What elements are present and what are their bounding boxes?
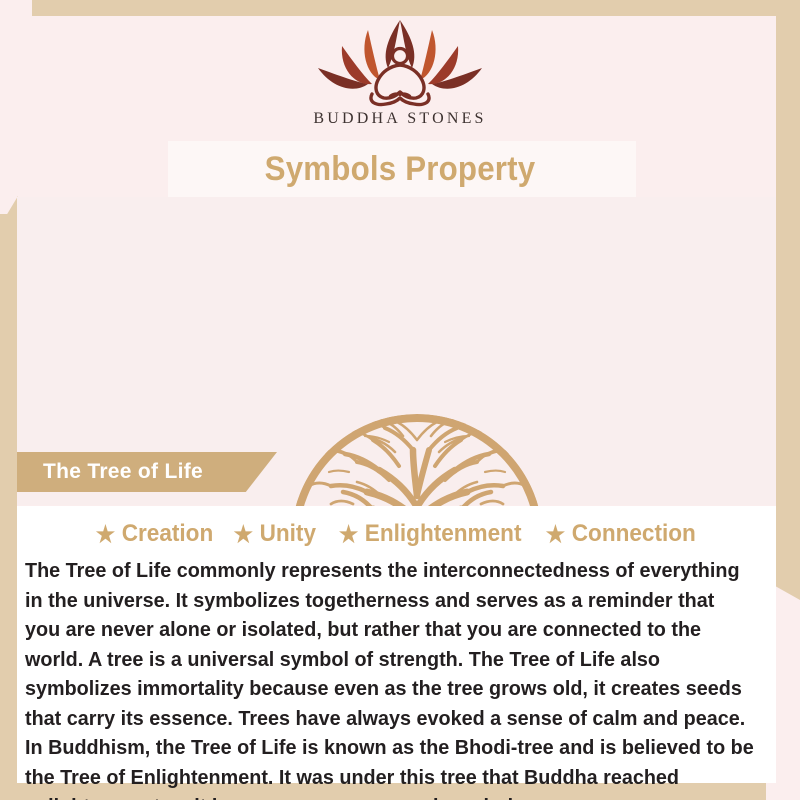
brand-logo: BUDDHA STONES	[0, 16, 800, 140]
ribbon-label: The Tree of Life	[43, 460, 203, 484]
frame-right-border-tail	[776, 570, 800, 600]
page-title: Symbols Property	[32, 141, 768, 197]
section-ribbon: The Tree of Life	[17, 452, 277, 492]
keyword-item-unity: ★ Unity	[234, 520, 316, 548]
keyword-label: Enlightenment	[365, 520, 522, 548]
lotus-meditation-figure-icon	[310, 16, 490, 108]
frame-top-border	[0, 0, 800, 16]
frame-top-left-notch	[0, 0, 32, 16]
keyword-item-creation: ★ Creation	[96, 520, 213, 548]
star-icon: ★	[339, 523, 358, 546]
keyword-label: Unity	[260, 520, 316, 548]
star-icon: ★	[546, 523, 565, 546]
star-icon: ★	[96, 523, 115, 546]
keyword-label: Creation	[122, 520, 214, 548]
keyword-label: Connection	[572, 520, 696, 548]
keyword-list: ★ Creation ★ Unity ★ Enlightenment ★ Con…	[17, 514, 776, 554]
frame-bottom-right-notch	[766, 783, 800, 800]
keyword-item-connection: ★ Connection	[546, 520, 696, 548]
poster-root: BUDDHA STONES Symbols Property	[0, 0, 800, 800]
frame-left-border	[0, 214, 17, 800]
star-icon: ★	[234, 523, 253, 546]
keyword-item-enlightenment: ★ Enlightenment	[339, 520, 522, 548]
body-paragraph: The Tree of Life commonly represents the…	[25, 556, 755, 800]
brand-name: BUDDHA STONES	[313, 110, 486, 128]
title-banner: Symbols Property	[0, 141, 800, 197]
